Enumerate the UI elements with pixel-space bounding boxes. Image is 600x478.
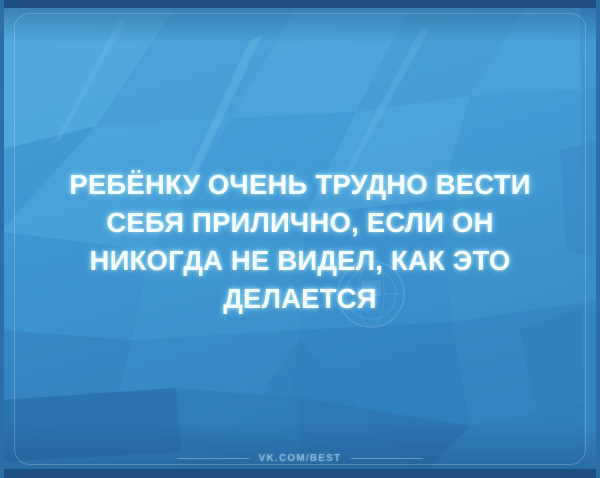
watermark: VK.COM/BEST [0,453,600,464]
quote-line-3: НИКОГДА НЕ ВИДЕЛ, КАК ЭТО [0,242,600,280]
quote-card: РЕБЁНКУ ОЧЕНЬ ТРУДНО ВЕСТИ СЕБЯ ПРИЛИЧНО… [0,0,600,478]
right-edge-bar [596,0,600,478]
quote-line-2: СЕБЯ ПРИЛИЧНО, ЕСЛИ ОН [0,204,600,242]
left-edge-bar [0,0,4,478]
quote-line-4: ДЕЛАЕТСЯ [0,280,600,318]
quote-text-block: РЕБЁНКУ ОЧЕНЬ ТРУДНО ВЕСТИ СЕБЯ ПРИЛИЧНО… [0,166,600,318]
watermark-rule-left [177,458,249,459]
watermark-rule-right [351,458,423,459]
watermark-text: VK.COM/BEST [259,453,342,464]
bottom-edge-bar [0,469,600,478]
quote-line-1: РЕБЁНКУ ОЧЕНЬ ТРУДНО ВЕСТИ [0,166,600,204]
top-edge-bar [0,0,600,8]
